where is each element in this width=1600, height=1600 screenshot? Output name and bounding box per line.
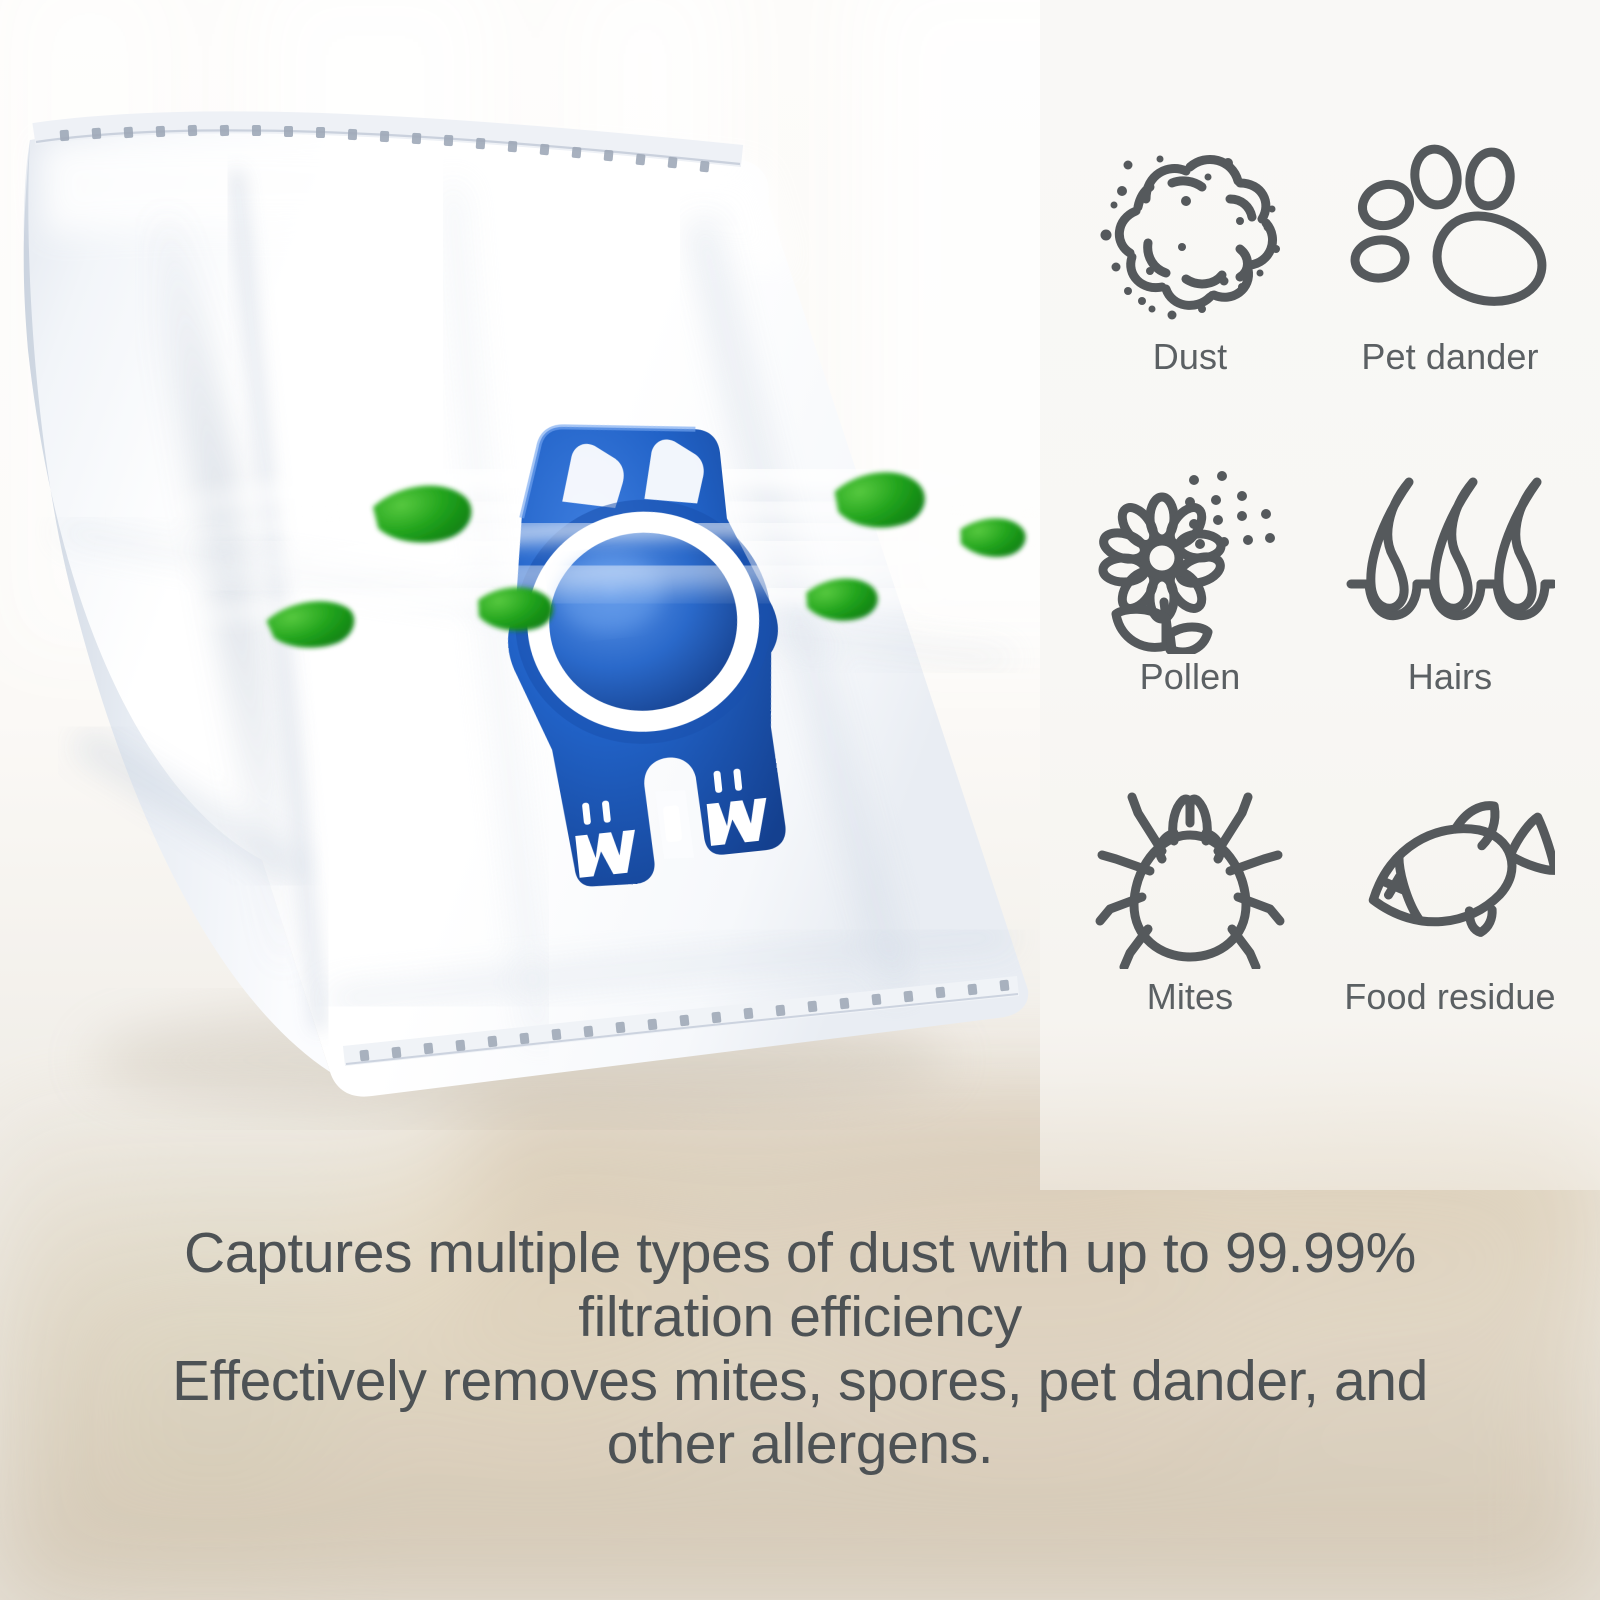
icon-label-food-residue: Food residue	[1344, 976, 1555, 1018]
caption-line-3: Effectively removes mites, spores, pet d…	[80, 1350, 1520, 1414]
fish-bone-icon	[1345, 774, 1555, 974]
icon-cell-dust: Dust	[1060, 120, 1320, 440]
icon-cell-pet-dander: Pet dander	[1320, 120, 1580, 440]
contaminant-icon-grid: Dust Pet dander	[1060, 120, 1580, 1080]
icon-cell-hairs: Hairs	[1320, 440, 1580, 760]
icon-label-hairs: Hairs	[1408, 656, 1493, 698]
icon-label-mites: Mites	[1147, 976, 1234, 1018]
dust-mite-icon	[1090, 774, 1290, 974]
caption-line-1: Captures multiple types of dust with up …	[80, 1222, 1520, 1286]
caption-line-4: other allergens.	[80, 1413, 1520, 1477]
icon-label-pollen: Pollen	[1140, 656, 1241, 698]
paw-print-icon	[1350, 134, 1550, 334]
icon-cell-mites: Mites	[1060, 760, 1320, 1080]
vacuum-bag-illustration	[0, 100, 1100, 1130]
icon-label-dust: Dust	[1153, 336, 1227, 378]
icon-cell-pollen: Pollen	[1060, 440, 1320, 760]
flower-pollen-icon	[1090, 454, 1290, 654]
icon-cell-food-residue: Food residue	[1320, 760, 1580, 1080]
hair-strands-icon	[1345, 454, 1555, 654]
icon-label-pet-dander: Pet dander	[1361, 336, 1538, 378]
infographic-canvas: Dust Pet dander	[0, 0, 1600, 1600]
caption-line-2: filtration efficiency	[80, 1286, 1520, 1350]
dust-cloud-icon	[1090, 134, 1290, 334]
caption-block: Captures multiple types of dust with up …	[80, 1222, 1520, 1477]
